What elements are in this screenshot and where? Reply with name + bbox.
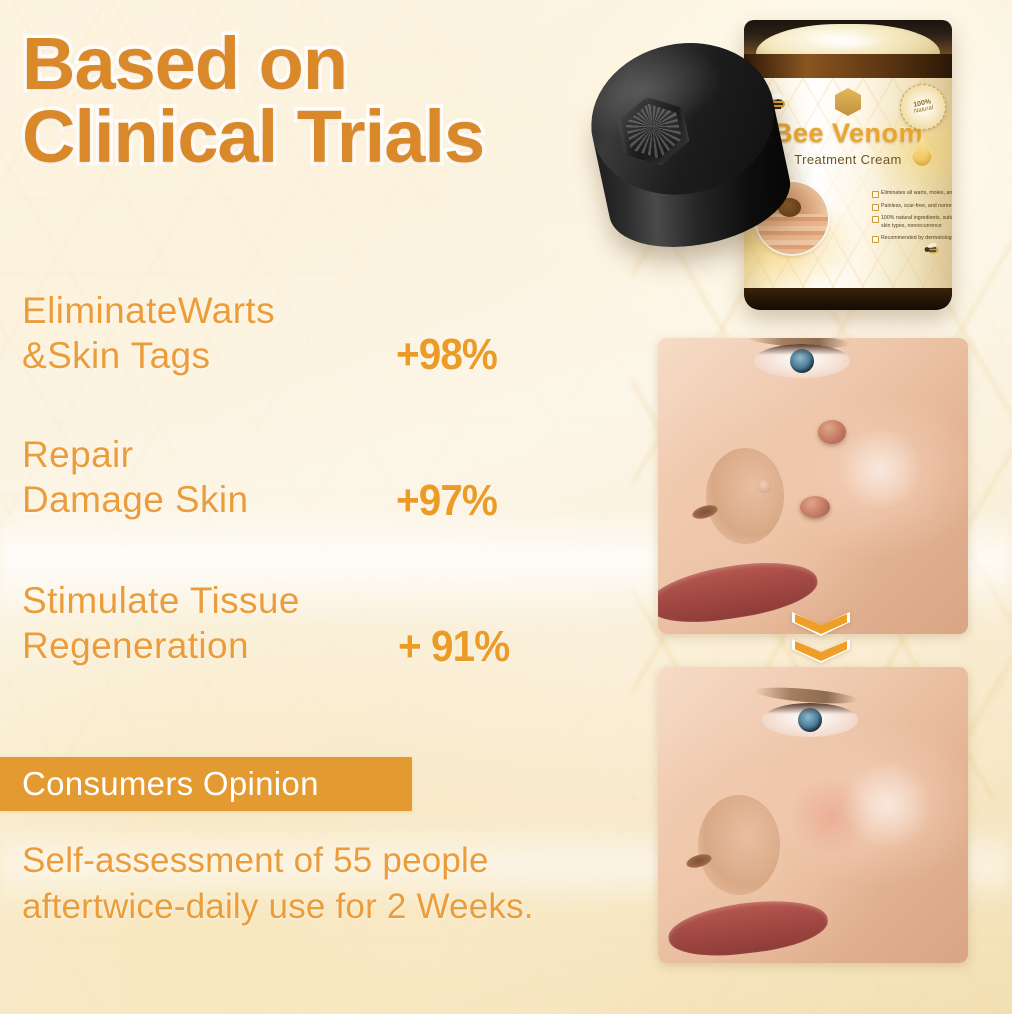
cheek-highlight: [840, 763, 936, 847]
benefit-label: Stimulate Tissue Regeneration: [22, 578, 382, 668]
product-bullet: Painless, scar-free, and nonrecurrence: [872, 203, 952, 211]
promo-poster: Based on Clinical Trials EliminateWarts …: [0, 0, 1012, 1014]
before-photo: [658, 338, 968, 634]
eye: [762, 703, 858, 737]
wart-large-lower: [800, 496, 830, 518]
eyelash: [762, 703, 858, 714]
benefit-label: Repair Damage Skin: [22, 432, 382, 522]
chevron-down-icon: [792, 612, 850, 636]
face-image-before: [658, 338, 968, 634]
product-bullet: 100% natural ingredients, suitable for a…: [872, 215, 952, 230]
chevron-down-icon: [792, 639, 850, 663]
product-bullet: Recommended by dermatologists: [872, 235, 952, 243]
page-title: Based on Clinical Trials: [22, 28, 622, 173]
product-bullet-list: Eliminates all warts, moles, and skin ta…: [832, 190, 952, 248]
eye: [754, 344, 850, 378]
face-image-after: [658, 667, 968, 963]
benefit-percent: +98%: [396, 330, 497, 380]
consumers-opinion-banner: Consumers Opinion: [0, 757, 412, 811]
benefit-percent: +97%: [396, 476, 497, 526]
benefit-percent: + 91%: [398, 622, 509, 672]
eyelash: [754, 344, 850, 355]
headline-line-1: Based on: [22, 22, 347, 105]
wart-large-upper: [818, 420, 846, 444]
lid-emblem-icon: [614, 90, 693, 172]
cheek-highlight: [834, 430, 926, 508]
after-photo: [658, 667, 968, 963]
product-jar: Bee Venom Treatment Cream 100%: [592, 10, 992, 320]
jar-base: [744, 288, 952, 310]
nose: [698, 795, 780, 895]
headline-line-2: Clinical Trials: [22, 101, 622, 174]
nose: [706, 448, 784, 544]
consumers-opinion-label: Consumers Opinion: [22, 765, 319, 803]
benefit-label: EliminateWarts &Skin Tags: [22, 288, 382, 378]
skin-tag-small: [758, 480, 771, 493]
consumers-opinion-body: Self-assessment of 55 people aftertwice-…: [22, 838, 592, 930]
product-bullet: Eliminates all warts, moles, and skin ta…: [872, 190, 952, 198]
